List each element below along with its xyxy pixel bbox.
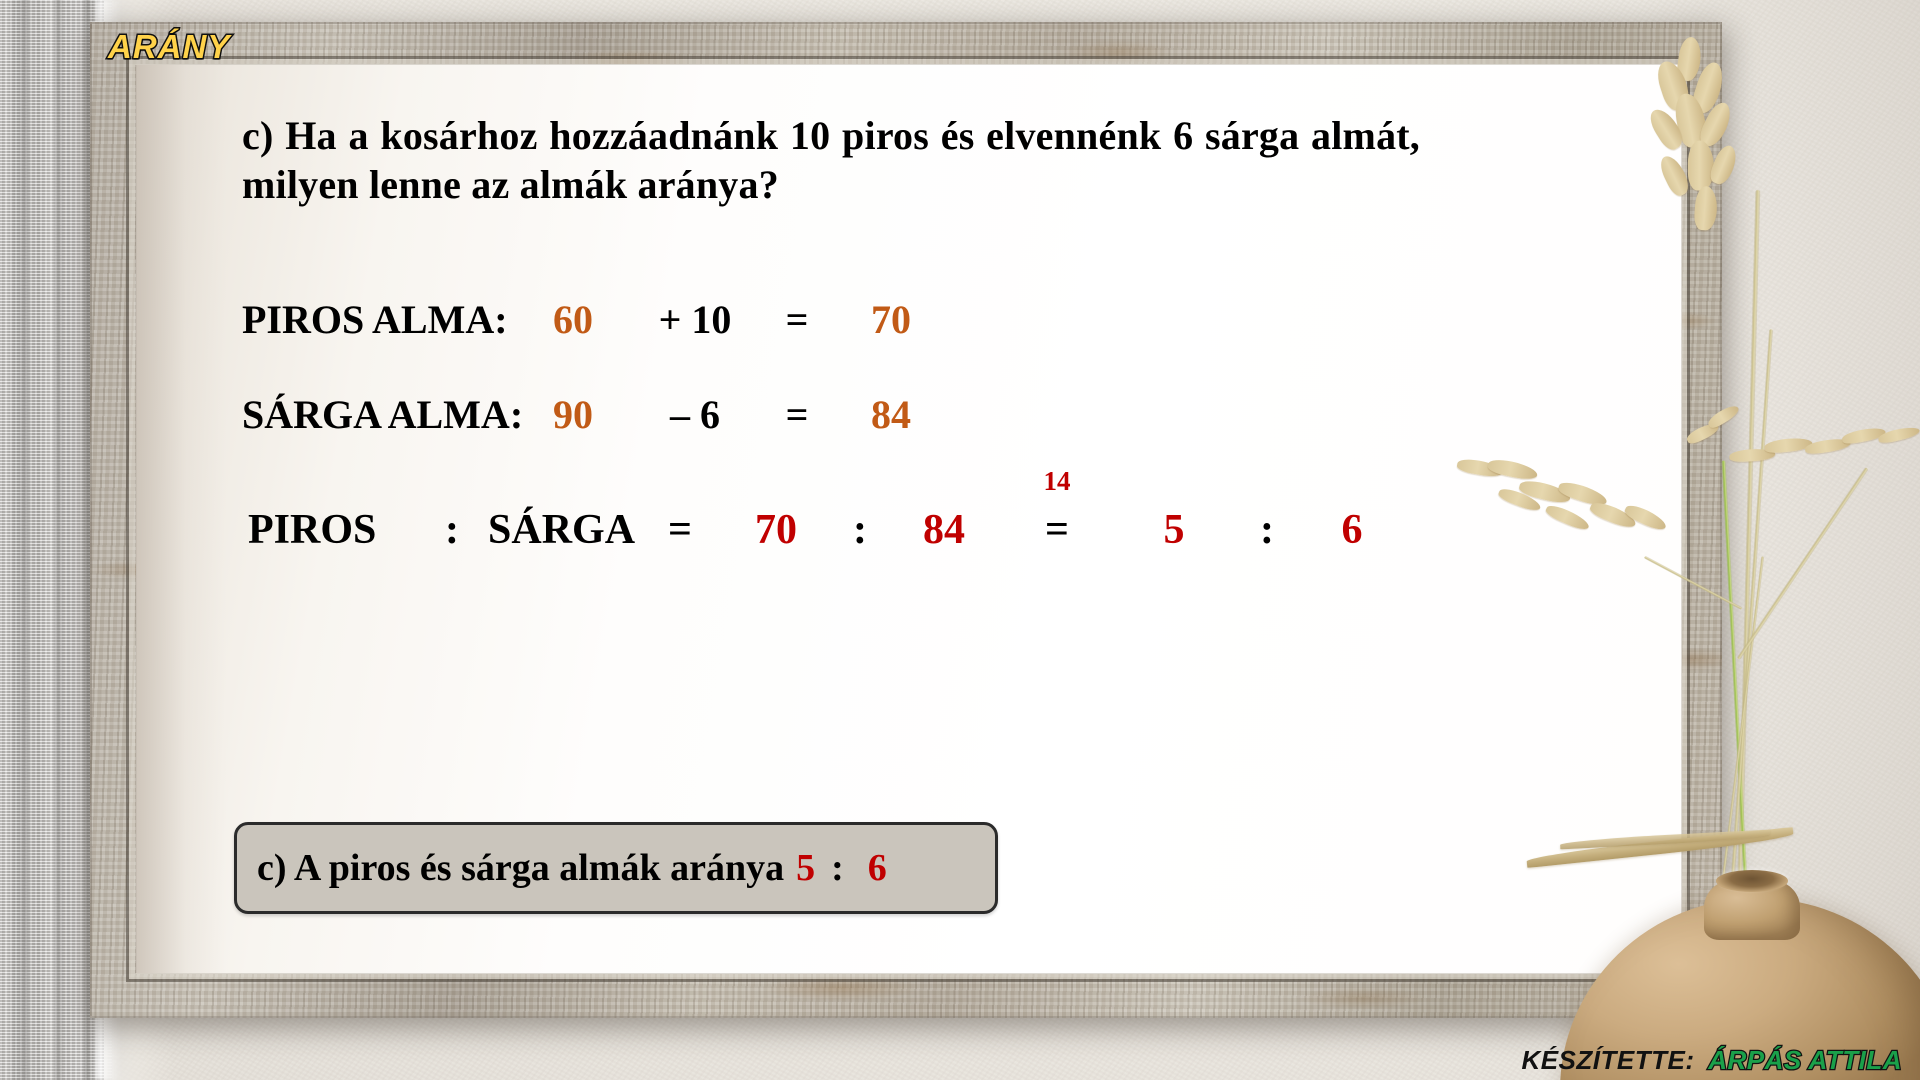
equation-result: 84: [836, 391, 946, 438]
equation-result: 70: [836, 296, 946, 343]
equation-row-red-apples: PIROS ALMA: 60 + 10 = 70: [242, 296, 1622, 343]
answer-prefix-text: c) A piros és sárga almák aránya: [257, 846, 784, 890]
slide-content: c) Ha a kosárhoz hozzáadnánk 10 piros és…: [242, 112, 1622, 554]
equations-block: PIROS ALMA: 60 + 10 = 70 SÁRGA ALMA: 90 …: [242, 296, 1622, 438]
equation-start-value: 90: [514, 391, 632, 438]
ratio-value-a: 70: [722, 506, 830, 554]
credit-author-name: ÁRPÁS ATTILA: [1708, 1045, 1902, 1075]
credit-label: KÉSZÍTETTE:: [1521, 1045, 1694, 1075]
ratio-equation-row: PIROS : SÁRGA = 70 : 84 14 = 5 : 6: [248, 506, 1622, 554]
page-title: ARÁNY: [108, 28, 230, 66]
equation-equals-sign: =: [758, 391, 836, 438]
credit-line: KÉSZÍTETTE: ÁRPÁS ATTILA: [1521, 1045, 1902, 1076]
equation-operator: + 10: [632, 296, 758, 343]
ratio-simplified-a: 5: [1116, 506, 1232, 554]
equation-label: PIROS ALMA:: [242, 296, 514, 343]
ratio-colon-3: :: [1232, 506, 1302, 554]
ratio-equals-2: =: [1045, 507, 1069, 553]
ratio-colon-1: :: [416, 506, 488, 554]
ratio-right-label: SÁRGA: [488, 506, 638, 554]
ratio-colon-2: :: [830, 506, 890, 554]
answer-value-a: 5: [796, 846, 815, 890]
ratio-left-label: PIROS: [248, 506, 416, 554]
slide-page-shading: [136, 64, 226, 974]
question-text: c) Ha a kosárhoz hozzáadnánk 10 piros és…: [242, 112, 1420, 210]
curtain-fold: [52, 0, 64, 1080]
answer-value-b: 6: [868, 846, 887, 890]
answer-colon: :: [831, 846, 844, 890]
answer-box: c) A piros és sárga almák aránya 5 : 6: [234, 822, 998, 914]
ratio-value-b: 84: [890, 506, 998, 554]
equation-equals-sign: =: [758, 296, 836, 343]
equation-start-value: 60: [514, 296, 632, 343]
equation-operator: – 6: [632, 391, 758, 438]
equation-label: SÁRGA ALMA:: [242, 391, 514, 438]
vase-mouth: [1716, 870, 1788, 892]
ratio-divisor-group: 14 =: [998, 506, 1116, 554]
ratio-simplified-b: 6: [1302, 506, 1402, 554]
ratio-equals-1: =: [638, 506, 722, 554]
decorative-vase-with-dried-grass: [1500, 380, 1920, 1080]
ratio-divisor-value: 14: [998, 466, 1116, 497]
curtain-fold: [18, 0, 32, 1080]
plant-plume-top: [1643, 32, 1777, 240]
equation-row-yellow-apples: SÁRGA ALMA: 90 – 6 = 84: [242, 391, 1622, 438]
